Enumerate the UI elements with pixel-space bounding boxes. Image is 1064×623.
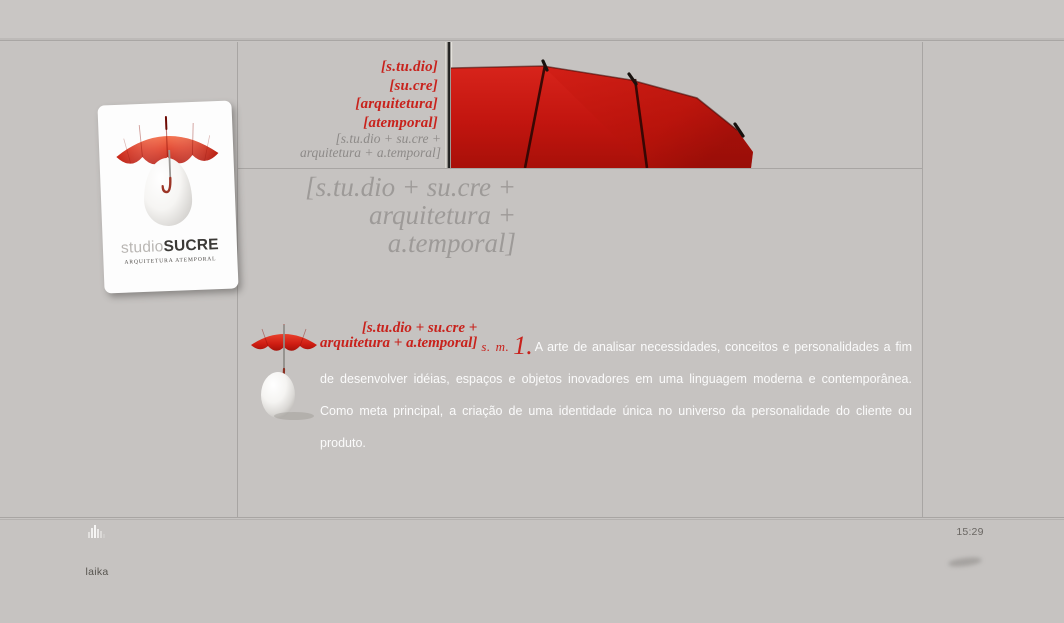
top-chrome-strip bbox=[0, 0, 1064, 41]
brand-subtitle-line-2: arquitetura + a.temporal] bbox=[238, 146, 441, 160]
definition-body-text: A arte de analisar necessidades, conceit… bbox=[320, 340, 912, 450]
page-bottom-rule bbox=[0, 517, 1064, 518]
definition-term-line-2: arquitetura + a.temporal] bbox=[320, 336, 477, 351]
logo-wordmark: studioSUCRE bbox=[103, 235, 238, 258]
logo-card[interactable]: studioSUCRE ARQUITETURA ATEMPORAL bbox=[97, 100, 238, 293]
definition-grammar-mark: s. m. bbox=[481, 339, 509, 354]
brand-word-stack: [s.tu.dio] [su.cre] [arquitetura] [atemp… bbox=[238, 58, 438, 132]
red-umbrella-banner-image bbox=[451, 56, 851, 168]
brand-word-studio: [s.tu.dio] bbox=[238, 58, 438, 77]
system-tray[interactable]: 15:29 bbox=[930, 526, 1010, 538]
definition-sense-number: 1. bbox=[513, 331, 533, 360]
equalizer-icon bbox=[88, 524, 106, 538]
hero-banner: [s.tu.dio] [su.cre] [arquitetura] [atemp… bbox=[238, 42, 922, 168]
top-chrome-divider bbox=[0, 38, 1064, 40]
clock: 15:29 bbox=[930, 526, 1010, 538]
brand-subtitle-line-1: [s.tu.dio + su.cre + bbox=[238, 132, 441, 146]
page-title-line-1: [s.tu.dio + su.cre + bbox=[238, 173, 516, 201]
definition-term: [s.tu.dio + su.cre + arquitetura + a.tem… bbox=[320, 321, 477, 351]
definition-term-line-1: [s.tu.dio + su.cre + bbox=[320, 321, 477, 336]
taskbar: laika 15:29 bbox=[0, 519, 1064, 623]
brand-word-arquitetura: [arquitetura] bbox=[238, 95, 438, 114]
definition-text: [s.tu.dio + su.cre + arquitetura + a.tem… bbox=[320, 325, 912, 459]
brand-word-sucre: [su.cre] bbox=[238, 77, 438, 96]
page-title-line-2: arquitetura + a.temporal] bbox=[238, 201, 516, 257]
logo-hook-icon bbox=[160, 150, 180, 197]
page-canvas: [s.tu.dio] [su.cre] [arquitetura] [atemp… bbox=[0, 42, 1064, 518]
desktop-root: [s.tu.dio] [su.cre] [arquitetura] [atemp… bbox=[0, 0, 1064, 623]
logo-wordmark-light: studio bbox=[121, 238, 164, 257]
page-right-rule bbox=[922, 42, 923, 518]
brand-word-atemporal: [atemporal] bbox=[238, 114, 438, 133]
brand-word-stack-subtitle: [s.tu.dio + su.cre + arquitetura + a.tem… bbox=[238, 132, 441, 160]
page-title: [s.tu.dio + su.cre + arquitetura + a.tem… bbox=[238, 170, 922, 232]
taskbar-window-label: laika bbox=[62, 566, 132, 578]
taskbar-window-laika[interactable]: laika bbox=[62, 524, 132, 578]
umbrella-egg-illustration bbox=[248, 323, 320, 423]
logo-wordmark-bold: SUCRE bbox=[163, 236, 219, 255]
banner-bottom-rule bbox=[238, 168, 922, 169]
